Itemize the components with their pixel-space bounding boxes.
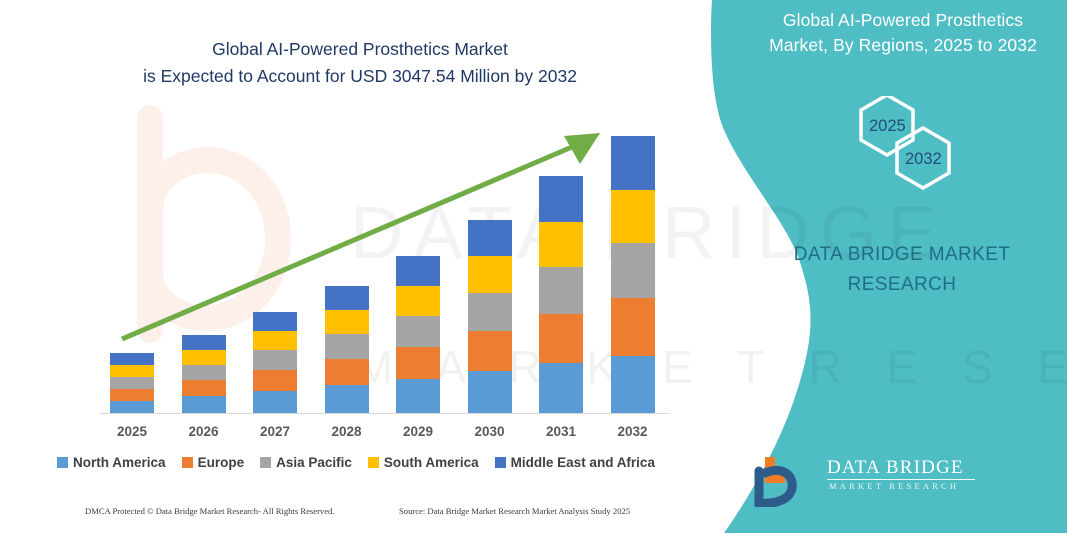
legend-swatch-icon — [368, 457, 379, 468]
legend-swatch-icon — [260, 457, 271, 468]
bar-segment-2029-europe — [396, 347, 440, 379]
bar-2026 — [182, 335, 226, 413]
hexagon-group: 2032 2025 — [737, 96, 1067, 211]
legend-label: South America — [384, 455, 479, 470]
bar-2032 — [611, 136, 655, 413]
chart-panel: DATA BRIDGE M A R K E T R E S E A R C H … — [0, 0, 712, 533]
bar-2027 — [253, 312, 297, 413]
bar-segment-2029-asia-pacific — [396, 316, 440, 347]
infographic-canvas: DATA BRIDGE M A R K E T R E S E A R C H … — [0, 0, 1067, 533]
bar-segment-2029-north-america — [396, 379, 440, 413]
bar-segment-2031-middle-east-and-africa — [539, 176, 583, 222]
x-axis-label-2029: 2029 — [378, 424, 458, 439]
logo-tagline: MARKET RESEARCH — [829, 481, 959, 491]
bar-segment-2032-south-america — [611, 190, 655, 243]
bar-segment-2028-south-america — [325, 310, 369, 334]
bar-segment-2030-middle-east-and-africa — [468, 220, 512, 256]
legend-swatch-icon — [57, 457, 68, 468]
bar-segment-2028-asia-pacific — [325, 334, 369, 359]
right-panel: Global AI-Powered Prosthetics Market, By… — [737, 0, 1067, 533]
hex-label-2025: 2025 — [869, 117, 906, 136]
x-axis-label-2028: 2028 — [307, 424, 387, 439]
bar-segment-2027-north-america — [253, 391, 297, 413]
bar-segment-2025-south-america — [110, 365, 154, 377]
data-bridge-logo-icon — [751, 453, 821, 507]
x-axis-label-2027: 2027 — [235, 424, 315, 439]
bar-segment-2026-europe — [182, 380, 226, 396]
logo-underline — [827, 479, 975, 480]
hex-label-2032: 2032 — [905, 150, 942, 169]
bar-2028 — [325, 286, 369, 413]
bar-segment-2025-north-america — [110, 401, 154, 413]
bar-segment-2029-south-america — [396, 286, 440, 316]
bar-segment-2027-south-america — [253, 331, 297, 350]
plot-area: 20252026202720282029203020312032 — [0, 0, 712, 533]
bar-segment-2031-europe — [539, 314, 583, 363]
x-axis-label-2031: 2031 — [521, 424, 601, 439]
legend-label: Europe — [198, 455, 245, 470]
bar-segment-2032-north-america — [611, 356, 655, 413]
bar-2031 — [539, 176, 583, 413]
bar-segment-2026-middle-east-and-africa — [182, 335, 226, 350]
right-panel-title: Global AI-Powered Prosthetics Market, By… — [747, 8, 1059, 58]
bar-segment-2028-north-america — [325, 385, 369, 413]
bar-segment-2026-south-america — [182, 350, 226, 365]
bar-segment-2031-south-america — [539, 222, 583, 267]
bar-segment-2032-europe — [611, 298, 655, 356]
bar-2025 — [110, 353, 154, 413]
x-axis-label-2026: 2026 — [164, 424, 244, 439]
bar-2030 — [468, 220, 512, 413]
right-title-line1: Global AI-Powered Prosthetics — [747, 8, 1059, 33]
right-title-line2: Market, By Regions, 2025 to 2032 — [747, 33, 1059, 58]
legend-swatch-icon — [495, 457, 506, 468]
bar-segment-2027-asia-pacific — [253, 350, 297, 370]
bar-segment-2031-asia-pacific — [539, 267, 583, 314]
x-axis-label-2032: 2032 — [593, 424, 673, 439]
footer-copyright: DMCA Protected © Data Bridge Market Rese… — [85, 506, 335, 516]
x-axis-label-2030: 2030 — [450, 424, 530, 439]
hexagon-outlines-icon — [737, 96, 1067, 211]
legend-swatch-icon — [182, 457, 193, 468]
bar-segment-2031-north-america — [539, 363, 583, 413]
bar-segment-2029-middle-east-and-africa — [396, 256, 440, 286]
legend-item-europe[interactable]: Europe — [182, 455, 245, 470]
legend-item-middle-east-and-africa[interactable]: Middle East and Africa — [495, 455, 655, 470]
legend-label: Asia Pacific — [276, 455, 352, 470]
bar-segment-2032-middle-east-and-africa — [611, 136, 655, 190]
bar-segment-2030-asia-pacific — [468, 293, 512, 331]
bar-segment-2026-asia-pacific — [182, 365, 226, 380]
bar-segment-2026-north-america — [182, 396, 226, 413]
brand-name: DATA BRIDGE MARKET RESEARCH — [737, 240, 1067, 300]
brand-line2: RESEARCH — [737, 270, 1067, 300]
legend-label: North America — [73, 455, 166, 470]
x-axis-line — [100, 413, 670, 414]
company-logo: DATA BRIDGE MARKET RESEARCH — [737, 447, 1067, 511]
x-axis-label-2025: 2025 — [92, 424, 172, 439]
bar-segment-2030-north-america — [468, 371, 512, 413]
chart-legend: North AmericaEuropeAsia PacificSouth Ame… — [0, 455, 712, 470]
brand-line1: DATA BRIDGE MARKET — [737, 240, 1067, 270]
bar-segment-2030-south-america — [468, 256, 512, 293]
bar-segment-2030-europe — [468, 331, 512, 371]
bar-segment-2025-middle-east-and-africa — [110, 353, 154, 365]
footer-source: Source: Data Bridge Market Research Mark… — [399, 506, 630, 516]
bar-2029 — [396, 256, 440, 413]
legend-label: Middle East and Africa — [511, 455, 655, 470]
bar-segment-2027-europe — [253, 370, 297, 391]
legend-item-north-america[interactable]: North America — [57, 455, 166, 470]
bar-segment-2025-asia-pacific — [110, 377, 154, 389]
legend-item-south-america[interactable]: South America — [368, 455, 479, 470]
legend-item-asia-pacific[interactable]: Asia Pacific — [260, 455, 352, 470]
bar-segment-2025-europe — [110, 389, 154, 401]
bar-segment-2027-middle-east-and-africa — [253, 312, 297, 331]
logo-wordmark: DATA BRIDGE — [827, 457, 964, 479]
bar-segment-2028-europe — [325, 359, 369, 385]
bar-segment-2028-middle-east-and-africa — [325, 286, 369, 310]
bar-segment-2032-asia-pacific — [611, 243, 655, 298]
